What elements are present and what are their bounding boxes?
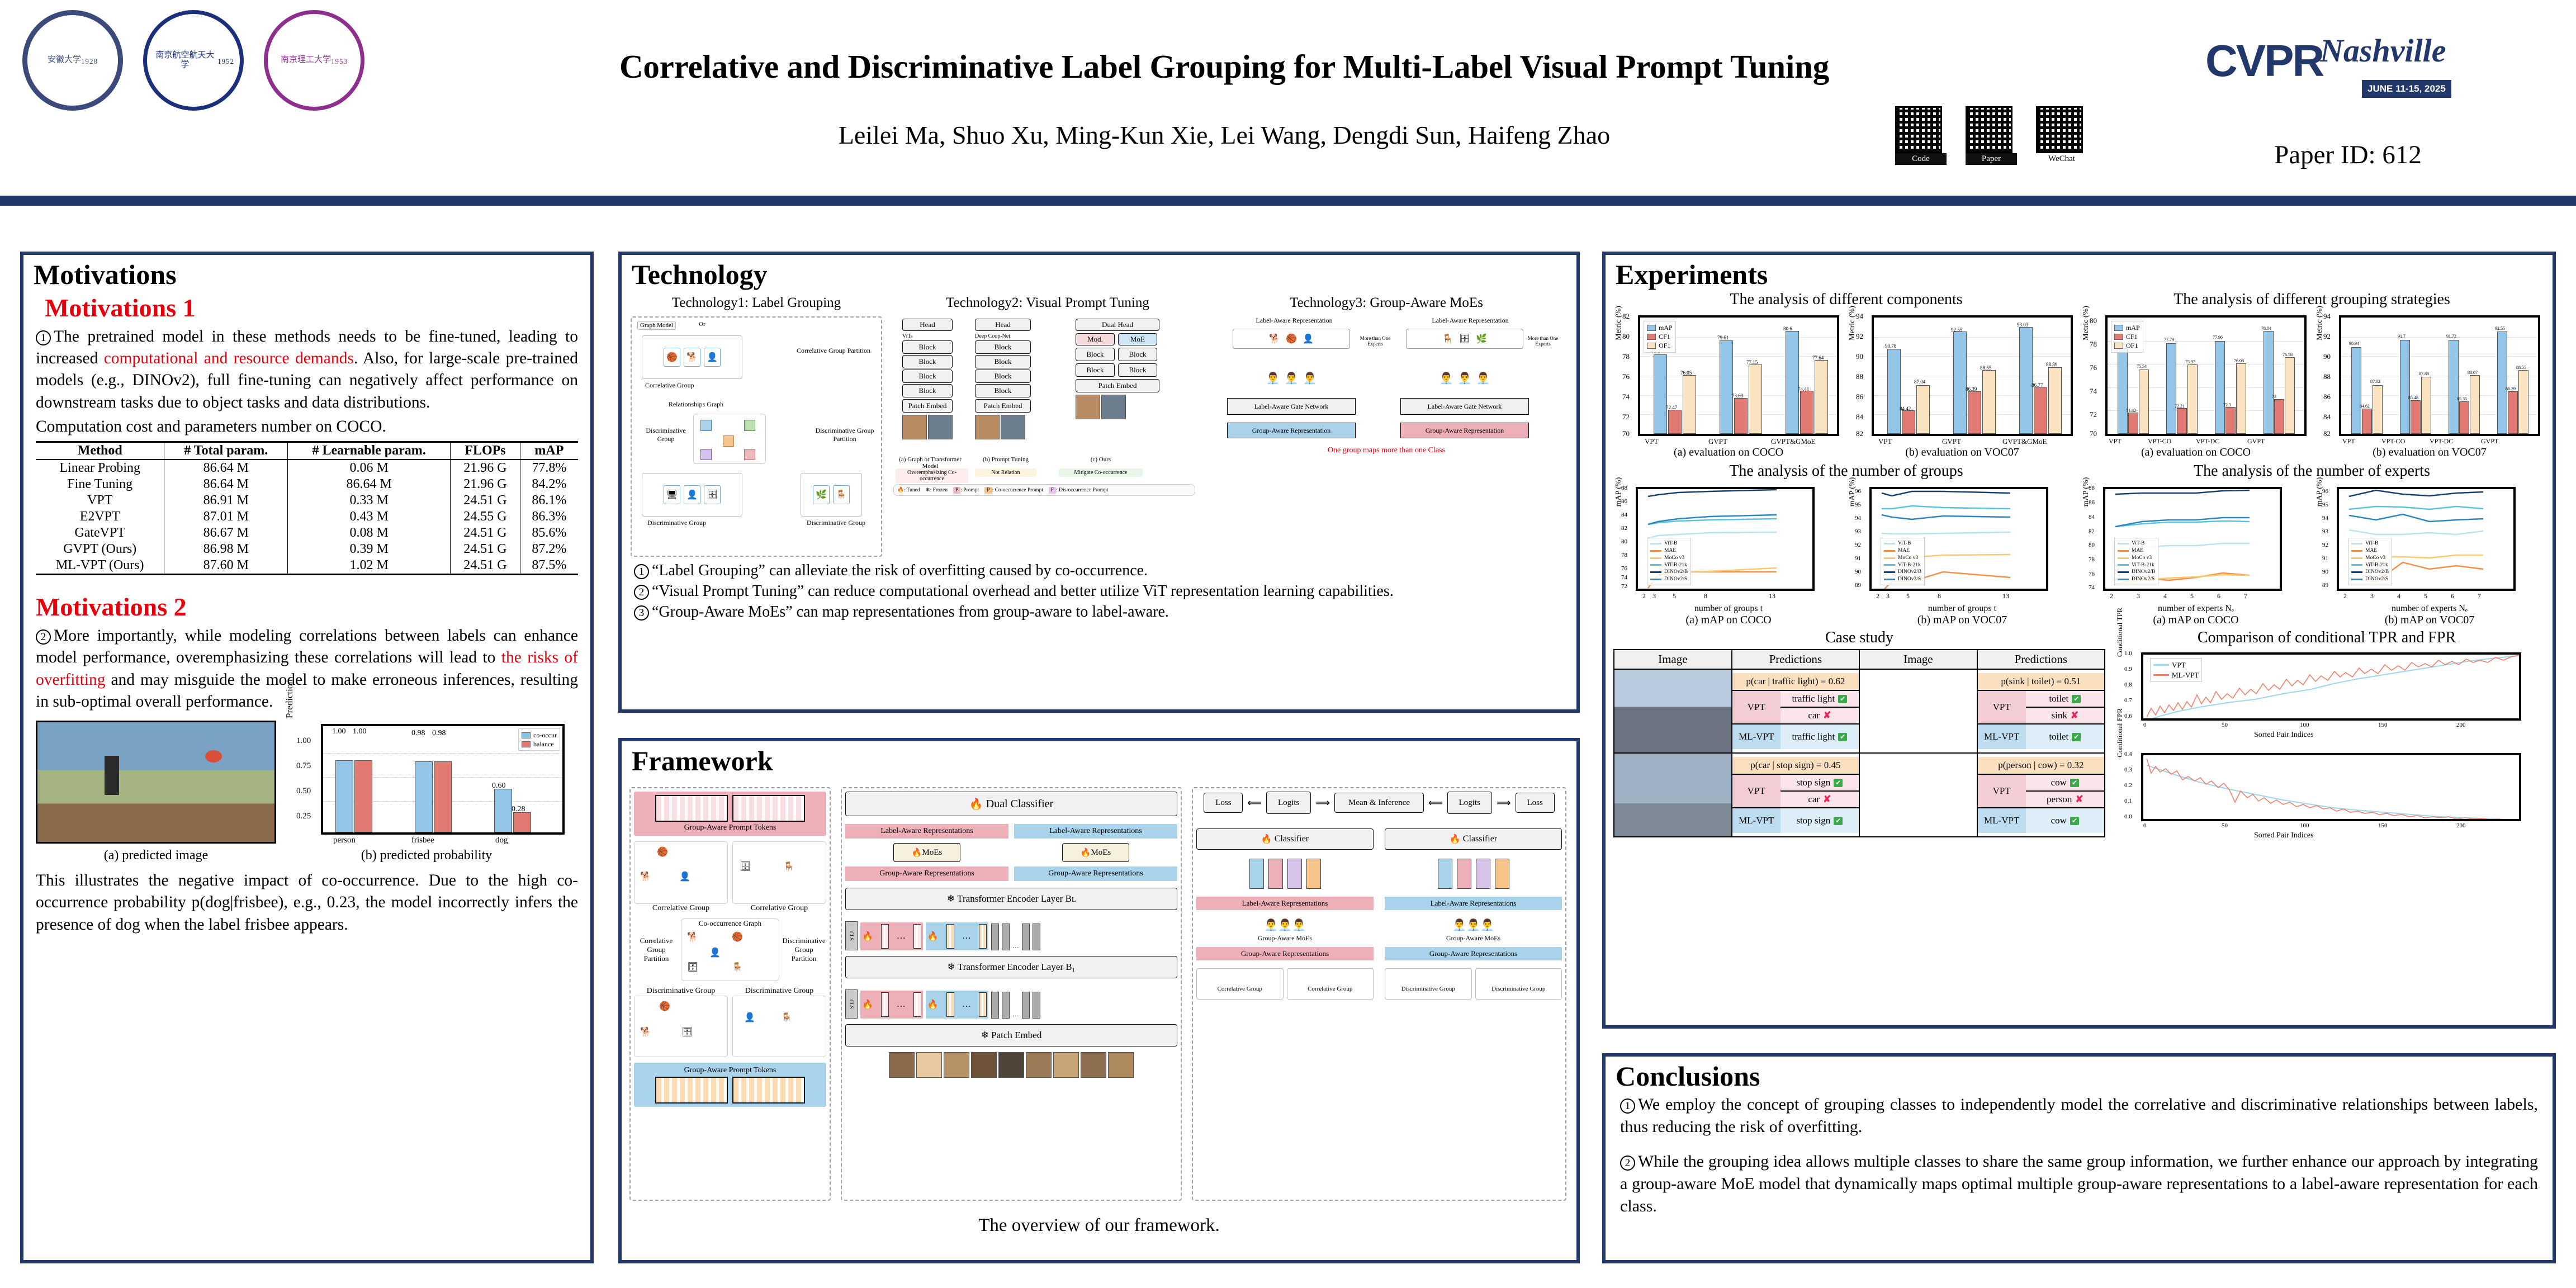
label-aware-rep-pink: Label-Aware Representations [845, 824, 1008, 839]
legend-disoccurrence-prompt: F: Dis-occurrence Prompt [1049, 487, 1109, 493]
mod-box: Mod. [1076, 333, 1115, 345]
block-box: Block [975, 340, 1031, 354]
chart-plot-area: 1.00 1.00 0.98 0.98 0.60 0.28 co-occur b… [321, 724, 565, 835]
framework-vit-block: 🔥 Dual Classifier Label-Aware Representa… [841, 787, 1182, 1201]
title-case-study: Case study [1613, 629, 2105, 647]
cell-map: 86.1% [520, 493, 578, 509]
prob-label: p(person | cow) = 0.32 [1978, 757, 2104, 774]
ylabel-tpr: Conditional TPR [2115, 599, 2124, 666]
tech3-diagram: Label-Aware Representation Label-Aware R… [1213, 316, 1560, 557]
tech2-col-b: Head Deep Coop-Net Block Block Block Blo… [975, 319, 1031, 439]
discriminative-group-sm-1: Discriminative Group [1385, 968, 1472, 1000]
patch-embed-box: ❄ Patch Embed [845, 1024, 1177, 1046]
correlative-partition-label: Correlative Group Partition [634, 936, 679, 963]
qr-code-paper[interactable]: Paper [1966, 106, 2017, 165]
discriminative-group-label-1: Discriminative Group [634, 987, 728, 996]
framework-heading: Framework [622, 741, 1576, 777]
bar-vpt-map [1654, 354, 1667, 434]
cs-col-image-2: Image [1859, 650, 1977, 669]
tech1-disc-group-label: Discriminative Group [647, 519, 706, 527]
loss-box-right: Loss [1516, 793, 1555, 813]
pred-text: cow [2051, 777, 2067, 788]
cell-total: 87.01 M [164, 509, 288, 525]
label-aware-rep-left: Label-Aware Representations [1196, 897, 1374, 910]
ytick: 0.75 [296, 761, 311, 771]
expert-icon: 👨‍💼 [1439, 371, 1453, 385]
predicted-image-figure: (a) predicted image [36, 721, 276, 863]
value-label: 0.98 [411, 729, 425, 738]
poster-root: 安徽大学1928 南京航空航天大学1952 南京理工大学1953 Correla… [0, 0, 2576, 1288]
cell-map: 84.2% [520, 476, 578, 493]
poster-title: Correlative and Discriminative Label Gro… [548, 48, 1901, 86]
logits-box-left: Logits [1266, 792, 1311, 814]
patch-embed-label: Patch Embed [991, 1030, 1041, 1041]
traffic-light-photo [1614, 670, 1731, 752]
dog-icon: 🐕 [1269, 333, 1280, 344]
pred-text: cow [2051, 815, 2067, 826]
xtick: frisbee [411, 836, 434, 845]
encoder-b1-label: Transformer Encoder Layer B₁ [958, 962, 1076, 973]
tpr-fpr-block: Comparison of conditional TPR and FPR Co… [2114, 629, 2539, 850]
desk-icon: 🗄 [687, 962, 698, 973]
bar-gvpt-map [1720, 340, 1733, 434]
qr-code-label: Paper [1966, 153, 2017, 165]
motivations-2-text: 2More importantly, while modeling correl… [36, 625, 578, 713]
cell-method: Fine Tuning [36, 476, 164, 493]
legend-label-cooccur: co-occur [533, 731, 557, 740]
patch-embed-box: Patch Embed [1076, 379, 1159, 392]
desk-icon: 🗄 [1459, 333, 1470, 344]
cvpr-wordmark: CVPR [2205, 35, 2323, 87]
xlabel-groups-voc07: number of groups t [1847, 604, 2077, 614]
qr-code-wechat[interactable]: WeChat [2036, 106, 2087, 165]
relationship-graph-box [693, 414, 766, 464]
case-study-row: p(car | stop sign) = 0.45 VPT stop sign✔… [1614, 753, 2105, 837]
group-aware-prompt-tokens-pink: Group-Aware Prompt Tokens [634, 792, 826, 836]
fpr-line-svg [2143, 755, 2521, 821]
author-list: Leilei Ma, Shuo Xu, Ming-Kun Xie, Lei Wa… [548, 120, 1901, 150]
qr-code-icon [1966, 106, 2012, 153]
basketball-icon: 🏀 [1286, 333, 1297, 344]
table-header-row: Method # Total param. # Learnable param.… [36, 442, 578, 460]
motivations-table-caption: Computation cost and parameters number o… [36, 416, 578, 438]
motivations-2-heading: Motivations 2 [36, 592, 578, 622]
tech1-correlative-group-label: Correlative Group [645, 381, 694, 390]
conclusion-item-1: 1We employ the concept of grouping class… [1620, 1093, 2538, 1138]
tech3-red-note: One group maps more than one Class [1263, 446, 1509, 455]
chart-legend: co-occur balance [518, 728, 560, 751]
block-box: Block [902, 370, 953, 383]
cell-total: 86.64 M [164, 476, 288, 493]
cvpr-city: Nashville [2320, 32, 2446, 69]
logo-anhui-university: 安徽大学1928 [22, 10, 123, 111]
qr-code-group: Code Paper WeChat [1895, 106, 2087, 165]
framework-loss-block: Loss ⟸ Logits ⟹ Mean & Inference ⟸ Logit… [1192, 787, 1566, 1201]
prob-label: p(car | traffic light) = 0.62 [1732, 673, 1859, 690]
vits-label: ViTs [902, 333, 953, 339]
title-components: The analysis of different components [1613, 291, 2079, 309]
ytick: 0.25 [296, 812, 311, 821]
block-box: Block [902, 355, 953, 368]
bar-person-cooccur [335, 760, 353, 833]
moe-box: MoE [1118, 333, 1157, 345]
xlabel-groups-coco: number of groups t [1613, 604, 1844, 614]
cs-col-image-1: Image [1614, 650, 1732, 669]
tech1-discriminative-partition-label: Discriminative Group Partition [814, 427, 875, 443]
xlabel-experts-voc07: number of experts Nₑ [2314, 604, 2545, 614]
cell-method: GVPT (Ours) [36, 541, 164, 557]
value-label: 76.05 [1680, 370, 1692, 376]
check-icon: ✔ [2070, 779, 2079, 787]
tech2-caption-c: (c) Ours [1070, 456, 1131, 463]
tech3-more-experts-note-2: More than One Experts [1526, 335, 1560, 347]
bullet-number: 1 [1620, 1098, 1635, 1114]
case-study-table: Image Predictions Image Predictions p(ca… [1613, 649, 2105, 837]
experts-row-right: 👨‍💼👨‍💼👨‍💼 [1385, 918, 1562, 932]
caption-components-coco: (a) evaluation on COCO [1613, 446, 1844, 459]
basketball-icon: 🏀 [659, 1001, 670, 1012]
cvpr-dates: JUNE 11-15, 2025 [2362, 80, 2451, 98]
tech3-gate-network-1: Label-Aware Gate Network [1227, 398, 1356, 415]
ytick: 0.50 [296, 787, 311, 796]
tech2-caption-b: (b) Prompt Tuning [975, 456, 1036, 463]
qr-code-code[interactable]: Code [1895, 106, 1947, 165]
value-label: 79.61 [1717, 335, 1729, 340]
encoder-bl-label: Transformer Encoder Layer Bʟ [957, 893, 1076, 905]
ytick: 76 [1622, 372, 1630, 381]
correlative-group-label-1: Correlative Group [634, 904, 728, 913]
chart-components-voc07: Metric (%) 94 92 90 88 86 84 82 [1847, 312, 2077, 459]
bar-vpt-of1 [1683, 375, 1696, 434]
bullet-number-1: 1 [36, 330, 51, 345]
technology-bullets: 1“Label Grouping” can alleviate the risk… [622, 557, 1576, 623]
caption-experts-voc07: (b) mAP on VOC07 [2314, 614, 2545, 627]
motivation-figures: (a) predicted image Prediction [36, 721, 578, 863]
block-box: Block [902, 384, 953, 397]
cell-method: VPT [36, 493, 164, 509]
framework-grouping-block: Group-Aware Prompt Tokens 🏀 🐕 👤 🗄 🪑 Corr… [629, 787, 831, 1201]
case-study-block: Case study Image Predictions Image Predi… [1613, 629, 2105, 850]
ytick: 78 [1622, 352, 1630, 361]
motivations-1-heading: Motivations 1 [45, 293, 578, 323]
bar-gmoe-cf1 [1800, 391, 1813, 434]
deep-coop-label: Deep Coop-Net [975, 333, 1031, 339]
chart-components-coco: Metric (%) 82 80 78 76 74 72 70 [1613, 312, 1844, 459]
tech3-class-row-1: 🐕🏀👤 [1233, 329, 1350, 349]
motivations-1-text: 1The pretrained model in these methods n… [36, 326, 578, 414]
dual-classifier-label: Dual Classifier [986, 798, 1054, 811]
desk-icon: 🗄 [740, 861, 751, 872]
ylabel: Metric (%) [1848, 292, 1857, 354]
qr-code-label: Code [1895, 153, 1947, 165]
experiments-row2-titles: The analysis of the number of groups The… [1606, 459, 2553, 480]
cell-learnable: 0.06 M [288, 460, 451, 476]
model-name-mlvpt: ML-VPT [1978, 724, 2026, 749]
model-name-vpt: VPT [1978, 775, 2026, 807]
conclusion-item-2: 2While the grouping idea allows multiple… [1620, 1150, 2538, 1218]
tech3-label-aware-2: Label-Aware Representation [1392, 316, 1549, 325]
conclusion-text-1: We employ the concept of grouping classe… [1620, 1095, 2538, 1136]
bullet-number: 2 [634, 585, 649, 600]
discriminative-group-box-1: 🏀 🐕 🗄 [634, 996, 728, 1057]
motivations-2-part-a: More importantly, while modeling correla… [36, 627, 578, 666]
mean-inference-box: Mean & Inference [1334, 793, 1424, 813]
col-method: Method [36, 442, 164, 460]
caption-grouping-coco: (a) evaluation on COCO [2081, 446, 2311, 459]
group-aware-rep-right: Group-Aware Representations [1385, 947, 1562, 960]
tech3-group-rep-1: Group-Aware Representation [1227, 423, 1356, 438]
cooccurrence-graph-label: Co-occurrence Graph [681, 919, 779, 928]
expert-icon: 👨‍💼 [1285, 371, 1299, 385]
chart-legend: mAP CF1 OF1 [1644, 321, 1676, 353]
chair-icon: 🪑 [1442, 333, 1453, 344]
classifier-box-right: 🔥 Classifier [1385, 828, 1562, 850]
figure-a-caption: (a) predicted image [36, 848, 276, 863]
qr-code-icon [2036, 106, 2083, 153]
block-box: Block [975, 384, 1031, 397]
discriminative-group-sm-2: Discriminative Group [1475, 968, 1562, 1000]
group-aware-moes-label-left: Group-Aware MoEs [1196, 934, 1374, 943]
tech1-disc-group-label-2: Discriminative Group [807, 519, 865, 527]
prompt-tokens-label-2: Group-Aware Prompt Tokens [637, 1066, 823, 1075]
monitor-icon: 🖥 [664, 485, 680, 504]
bullet-text: “Label Grouping” can alleviate the risk … [652, 562, 1148, 579]
pred-text: car [1808, 794, 1820, 805]
ytick: 82 [1622, 312, 1630, 321]
bar-dog-cooccur [494, 789, 512, 832]
discriminative-group-box-2: 👤 🪑 [732, 996, 826, 1057]
predicted-probability-chart: Prediction [284, 721, 569, 863]
framework-panel: Framework Group-Aware Prompt Tokens 🏀 🐕 … [618, 738, 1580, 1263]
tech2-legend: 🔥: Tuned ❄: Frozen P: Prompt P: Co-occur… [893, 484, 1195, 496]
chair-icon: 🪑 [783, 861, 794, 872]
plant-icon: 🌿 [813, 485, 830, 504]
pred-text: traffic light [1792, 693, 1835, 704]
block-box: Block [1118, 363, 1157, 377]
table-row: Linear Probing86.64 M0.06 M21.96 G77.8% [36, 460, 578, 476]
transformer-encoder-b1: ❄ Transformer Encoder Layer B₁ [845, 956, 1177, 978]
person-icon: 👤 [744, 1012, 755, 1023]
bar-frisbee-cooccur [415, 761, 433, 832]
motivations-1-highlight: computational and resource demands [104, 349, 354, 367]
bar-gvpt-cf1 [1734, 398, 1748, 434]
cell-flops: 21.96 G [451, 476, 520, 493]
bullet-number: 3 [634, 605, 649, 621]
xtick: GVPT&GMoE [1771, 437, 1815, 446]
cls-token: CLS [845, 921, 858, 950]
pred-text: toilet [2049, 693, 2068, 704]
tech1-diagram: Graph Model Or 🏀 🐕 👤 Correlative Group C… [631, 316, 882, 557]
check-icon: ✔ [2072, 695, 2081, 703]
ytick: 1.00 [296, 736, 311, 746]
model-name-mlvpt: ML-VPT [1732, 724, 1781, 749]
relationships-graph-label: Relationships Graph [643, 400, 749, 409]
patch-embed-box: Patch Embed [975, 399, 1031, 413]
graph-model-tag: Graph Model [637, 321, 676, 330]
prob-label: p(car | stop sign) = 0.45 [1732, 757, 1859, 774]
chair-icon: 🪑 [833, 485, 850, 504]
plant-icon: 🌿 [1476, 333, 1487, 344]
model-name-mlvpt: ML-VPT [1732, 808, 1781, 833]
bar-gvpt-of1 [1749, 364, 1762, 434]
technology-heading: Technology [622, 255, 1576, 291]
bar-person-balance [354, 760, 372, 833]
cell-flops: 24.51 G [451, 557, 520, 575]
tech3-group-rep-2: Group-Aware Representation [1400, 423, 1529, 438]
cooccurrence-graph-box: Co-occurrence Graph 🐕 🏀 👤 🗄 🪑 [681, 918, 779, 981]
block-box: Block [1118, 348, 1157, 361]
legend-vpt: VPT [2172, 660, 2186, 670]
cross-icon: ✘ [1823, 710, 1831, 721]
head-box: Head [975, 319, 1031, 331]
legend-tuned: 🔥: Tuned [897, 487, 920, 493]
group-aware-rep-left: Group-Aware Representations [1196, 947, 1374, 960]
case-study-row: p(car | traffic light) = 0.62 VPT traffi… [1614, 669, 2105, 753]
moes-box-1: 🔥 MoEs [893, 843, 960, 862]
or-tag: Or [699, 321, 705, 328]
legend-cooccurrence-prompt: P: Co-occurrence Prompt [984, 487, 1043, 493]
framework-branch-right: 🔥 Classifier Label-Aware Representations… [1385, 828, 1562, 1000]
ylabel: Metric (%) [1614, 292, 1623, 354]
cs-col-pred-2: Predictions [1977, 650, 2105, 669]
correlative-group-label-2: Correlative Group [732, 904, 826, 913]
block-box: Block [975, 370, 1031, 383]
col-total-param: # Total param. [164, 442, 288, 460]
table-row: GateVPT86.67 M0.08 M24.51 G85.6% [36, 525, 578, 541]
label-aware-rep-right: Label-Aware Representations [1385, 897, 1562, 910]
basketball-icon: 🏀 [664, 348, 680, 367]
person-icon: 👤 [679, 871, 690, 882]
bullet-number-2: 2 [36, 629, 51, 645]
chart-experts-voc07: mAP (%) 96 95 94 93 92 91 90 89 [2314, 484, 2545, 627]
technology-subtitles: Technology1: Label Grouping Technology2:… [622, 291, 1576, 311]
block-box: Block [902, 340, 953, 354]
cell-total: 86.98 M [164, 541, 288, 557]
logo-nuaa-year: 1952 [217, 58, 234, 66]
group-aware-rep-pink: Group-Aware Representations [845, 866, 1008, 881]
ytick: 80 [1622, 332, 1630, 341]
moes-box-2: 🔥 MoEs [1062, 843, 1129, 862]
technology-bullet-3: 3“Group-Aware MoEs” can map representati… [634, 602, 1564, 622]
chart-groups-voc07: mAP (%) 96 95 94 93 92 91 90 89 [1847, 484, 2077, 627]
pred-text: sink [2052, 710, 2067, 721]
legend-frozen: ❄: Frozen [926, 487, 948, 493]
dual-classifier-box: 🔥 Dual Classifier [845, 792, 1177, 816]
dog-icon: 🐕 [640, 871, 651, 882]
table-row: E2VPT87.01 M0.43 M24.55 G86.3% [36, 509, 578, 525]
chart-ylabel: Prediction [284, 657, 295, 741]
experiments-row3: Case study Image Predictions Image Predi… [1606, 627, 2553, 850]
value-label: 1.00 [353, 727, 367, 736]
value-label: 77.15 [1746, 359, 1758, 365]
model-name-vpt: VPT [1978, 691, 2026, 723]
cell-flops: 24.51 G [451, 493, 520, 509]
col-learnable-param: # Learnable param. [288, 442, 451, 460]
chair-icon: 🪑 [781, 1012, 792, 1023]
value-label: 72.47 [1666, 405, 1677, 410]
cell-learnable: 0.39 M [288, 541, 451, 557]
cell-total: 86.64 M [164, 460, 288, 476]
cell-total: 87.60 M [164, 557, 288, 575]
computation-cost-table: Method # Total param. # Learnable param.… [36, 441, 578, 575]
input-patch-strip [845, 1052, 1177, 1078]
value-label: 73.69 [1732, 393, 1743, 399]
cross-icon: ✘ [2075, 794, 2083, 805]
col-flops: FLOPs [451, 442, 520, 460]
university-logos: 安徽大学1928 南京航空航天大学1952 南京理工大学1953 [22, 10, 364, 111]
cell-learnable: 0.43 M [288, 509, 451, 525]
tech2-note-a: Overemphasizing Co-occurrence [896, 468, 968, 483]
table-row: ML-VPT (Ours)87.60 M1.02 M24.51 G87.5% [36, 557, 578, 575]
experiments-row2-charts: mAP (%) 88 86 84 82 80 78 76 74 72 [1606, 480, 2553, 627]
dog-icon: 🐕 [687, 931, 698, 943]
ytick: 70 [1622, 429, 1630, 438]
technology-diagrams: Graph Model Or 🏀 🐕 👤 Correlative Group C… [622, 311, 1576, 557]
title-groups: The analysis of the number of groups [1613, 462, 2079, 480]
legend-mlvpt: ML-VPT [2172, 670, 2199, 680]
cell-method: Linear Probing [36, 460, 164, 476]
cell-learnable: 0.33 M [288, 493, 451, 509]
conclusions-heading: Conclusions [1606, 1057, 2553, 1092]
tech2-caption-a: (a) Graph or Transformer Model [897, 456, 964, 470]
motivations-2-part-b: and may misguide the model to make erron… [36, 671, 578, 711]
title-tpr-fpr: Comparison of conditional TPR and FPR [2114, 629, 2539, 647]
expert-icon: 👨‍💼 [1303, 371, 1317, 385]
logits-box-right: Logits [1447, 792, 1492, 814]
caption-components-voc07: (b) evaluation on VOC07 [1847, 446, 2077, 459]
cell-map: 77.8% [520, 460, 578, 476]
cell-method: GateVPT [36, 525, 164, 541]
xtick: GVPT [1708, 437, 1727, 446]
legend-prompt: P: Prompt [953, 487, 979, 493]
logo-nuaa: 南京航空航天大学1952 [143, 10, 244, 111]
group-aware-rep-blue: Group-Aware Representations [1014, 866, 1177, 881]
logo-anhui-year: 1928 [81, 58, 98, 66]
tech2-col-a: Head ViTs Block Block Block Block Patch … [902, 319, 953, 439]
head-box: Head [902, 319, 953, 331]
loss-box-left: Loss [1204, 793, 1243, 813]
tech1-discriminative-label: Discriminative Group [641, 427, 691, 443]
person-icon: 👤 [709, 947, 721, 958]
value-label: 0.98 [432, 729, 446, 738]
cell-method: E2VPT [36, 509, 164, 525]
pred-text: stop sign [1796, 777, 1830, 788]
tech3-experts-2: 👨‍💼👨‍💼👨‍💼 [1406, 366, 1523, 390]
label-aware-rep-blue: Label-Aware Representations [1014, 824, 1177, 839]
conclusion-text-2: While the grouping idea allows multiple … [1620, 1152, 2538, 1215]
expert-icon: 👨‍💼 [1476, 371, 1490, 385]
pred-text: toilet [2049, 731, 2068, 742]
pred-text: car [1808, 710, 1820, 721]
correlative-group-box-2: 🗄 🪑 [732, 841, 826, 904]
tech3-more-experts-note: More than One Experts [1356, 335, 1395, 347]
transformer-encoder-bl: ❄ Transformer Encoder Layer Bʟ [845, 888, 1177, 910]
pred-text: person [2047, 794, 2072, 805]
xtick: VPT [1645, 437, 1659, 446]
technology-bullet-1: 1“Label Grouping” can alleviate the risk… [634, 560, 1564, 581]
experts-row-left: 👨‍💼👨‍💼👨‍💼 [1196, 918, 1374, 932]
legend-swatch-balance [522, 741, 531, 747]
predicted-image-photo [36, 721, 276, 844]
header-divider [0, 196, 2576, 206]
xlabel-fpr: Sorted Pair Indices [2254, 831, 2314, 840]
value-label: 1.00 [332, 727, 346, 736]
cls-token: CLS [845, 989, 858, 1019]
correlative-group-sm-1: Correlative Group [1196, 968, 1284, 1000]
cell-learnable: 1.02 M [288, 557, 451, 575]
tech2-col-c: Dual Head Mod. MoE Block Block Block Blo… [1053, 319, 1193, 419]
caption-groups-voc07: (b) mAP on VOC07 [1847, 614, 2077, 627]
